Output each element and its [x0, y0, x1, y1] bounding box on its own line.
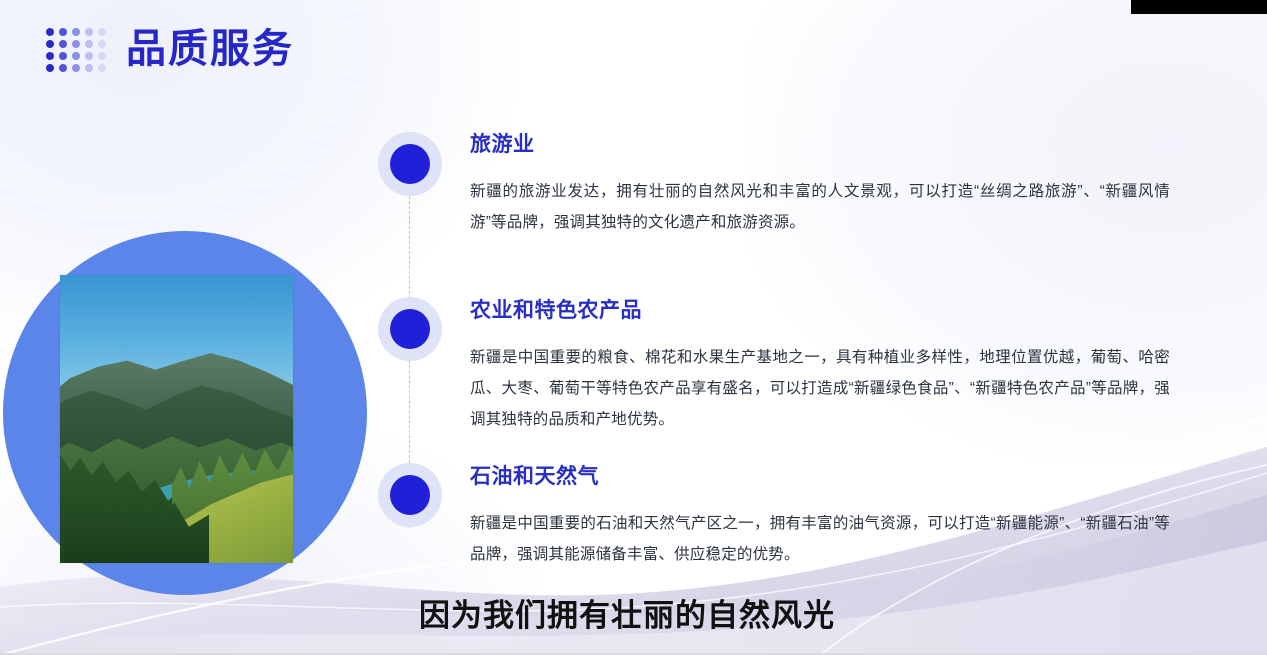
timeline-bullet-2	[378, 297, 442, 361]
photo-vignette	[60, 275, 293, 563]
section-tourism: 旅游业 新疆的旅游业发达，拥有壮丽的自然风光和丰富的人文景观，可以打造“丝绸之路…	[470, 130, 1170, 238]
section-title: 石油和天然气	[470, 462, 1170, 492]
bullet-dot-icon	[390, 475, 430, 515]
slide-canvas: 品质服务 旅游业 新疆的旅游业发达，拥有壮丽的自然风光和丰富的人文景观，可以打造…	[0, 0, 1267, 655]
section-agriculture: 农业和特色农产品 新疆是中国重要的粮食、棉花和水果生产基地之一，具有种植业多样性…	[470, 296, 1170, 435]
timeline-bullet-3	[378, 463, 442, 527]
section-oil-gas: 石油和天然气 新疆是中国重要的石油和天然气产区之一，拥有丰富的油气资源，可以打造…	[470, 462, 1170, 570]
timeline-bullet-1	[378, 132, 442, 196]
landscape-photo	[60, 275, 293, 563]
bullet-dot-icon	[390, 144, 430, 184]
page-title: 品质服务	[126, 23, 294, 75]
section-body: 新疆是中国重要的粮食、棉花和水果生产基地之一，具有种植业多样性，地理位置优越，葡…	[470, 342, 1170, 435]
section-body: 新疆的旅游业发达，拥有壮丽的自然风光和丰富的人文景观，可以打造“丝绸之路旅游”、…	[470, 176, 1170, 238]
section-body: 新疆是中国重要的石油和天然气产区之一，拥有丰富的油气资源，可以打造“新疆能源”、…	[470, 508, 1170, 570]
section-title: 农业和特色农产品	[470, 296, 1170, 326]
subtitle-caption: 因为我们拥有壮丽的自然风光	[419, 595, 835, 637]
dot-grid-icon	[44, 26, 108, 74]
top-right-black-bar	[1131, 0, 1267, 14]
section-title: 旅游业	[470, 130, 1170, 160]
bullet-dot-icon	[390, 309, 430, 349]
